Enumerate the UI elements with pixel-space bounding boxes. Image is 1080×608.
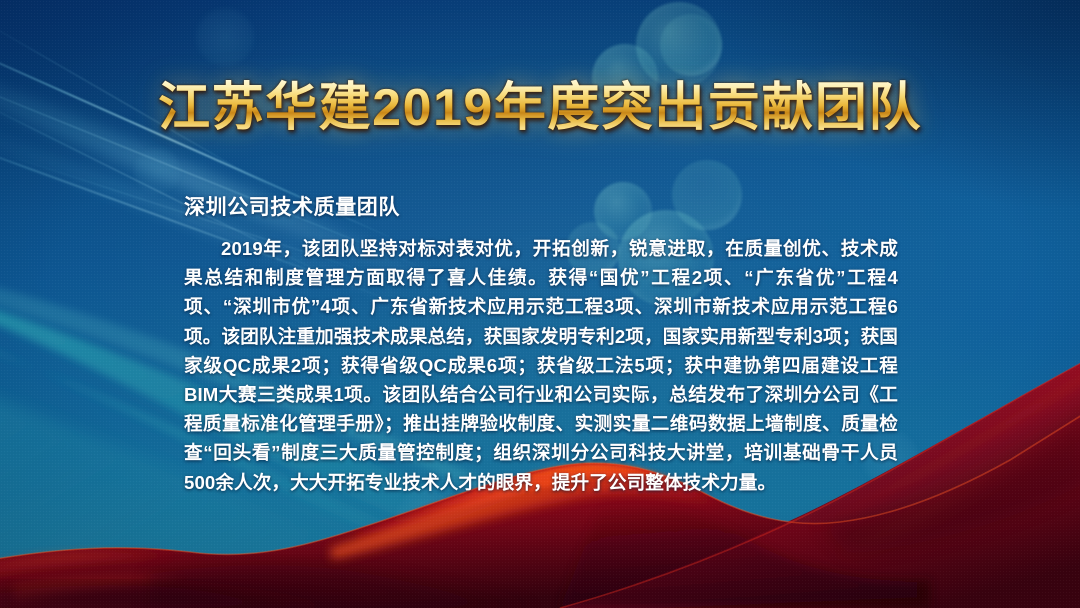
section-subtitle: 深圳公司技术质量团队 bbox=[184, 194, 400, 222]
body-paragraph: 2019年，该团队坚持对标对表对优，开拓创新，锐意进取，在质量创优、技术成果总结… bbox=[184, 234, 898, 497]
page-title: 江苏华建2019年度突出贡献团队 bbox=[0, 78, 1080, 138]
poster-canvas: 江苏华建2019年度突出贡献团队 江苏华建2019年度突出贡献团队 深圳公司技术… bbox=[0, 0, 1080, 608]
poster-content: 江苏华建2019年度突出贡献团队 江苏华建2019年度突出贡献团队 深圳公司技术… bbox=[0, 0, 1080, 608]
